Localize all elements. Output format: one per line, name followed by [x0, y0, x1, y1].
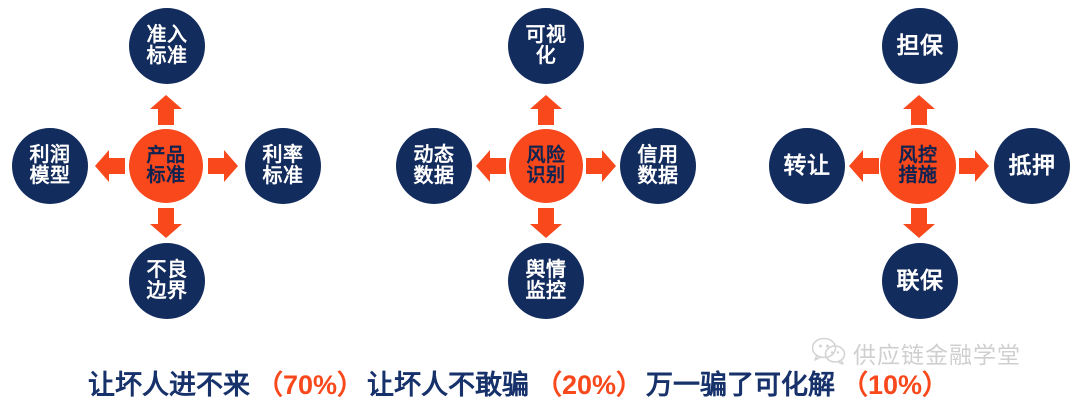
node-label: 准入 标准	[147, 25, 188, 67]
node-left-cluster2[interactable]: 动态 数据	[396, 128, 472, 204]
node-label: 抵押	[1009, 154, 1056, 178]
node-right-cluster1[interactable]: 利率 标准	[245, 128, 321, 204]
arrow-right-cluster1	[208, 150, 238, 182]
arrow-up-cluster1	[150, 95, 182, 125]
caption-text: 万一骗了可化解	[646, 370, 835, 400]
node-left-cluster1[interactable]: 利润 模型	[12, 128, 88, 204]
arrow-left-cluster3	[849, 150, 879, 182]
node-right-cluster2[interactable]: 信用 数据	[620, 128, 696, 204]
caption-text: 让坏人进不来	[88, 370, 250, 400]
node-label: 舆情 监控	[526, 260, 567, 302]
node-label: 产品 标准	[146, 146, 185, 186]
node-label: 利润 模型	[30, 145, 71, 187]
caption-text: 让坏人不敢骗	[367, 370, 529, 400]
arrow-down-cluster2	[530, 208, 562, 238]
arrow-down-cluster1	[150, 208, 182, 238]
caption-cluster3: 万一骗了可化解（10%）	[646, 363, 949, 402]
node-hub-cluster1[interactable]: 产品 标准	[129, 129, 203, 203]
arrow-down-cluster3	[903, 208, 935, 238]
caption-percent: （10%）	[841, 370, 949, 400]
caption-cluster1: 让坏人进不来（70%）	[88, 363, 364, 402]
node-hub-cluster2[interactable]: 风险 识别	[509, 129, 583, 203]
node-bottom-cluster1[interactable]: 不良 边界	[129, 243, 205, 319]
node-label: 利率 标准	[263, 145, 304, 187]
arrow-right-cluster3	[959, 150, 989, 182]
arrow-up-cluster3	[903, 95, 935, 125]
arrow-up-cluster2	[530, 95, 562, 125]
arrow-left-cluster1	[95, 150, 125, 182]
node-left-cluster3[interactable]: 转让	[769, 128, 845, 204]
node-label: 可视 化	[526, 25, 567, 67]
node-bottom-cluster3[interactable]: 联保	[882, 243, 958, 319]
caption-percent: （20%）	[535, 370, 643, 400]
arrow-right-cluster2	[586, 150, 616, 182]
caption-cluster2: 让坏人不敢骗（20%）	[367, 363, 643, 402]
node-right-cluster3[interactable]: 抵押	[994, 128, 1070, 204]
node-label: 动态 数据	[414, 145, 455, 187]
node-label: 风控 措施	[898, 146, 937, 186]
node-top-cluster3[interactable]: 担保	[882, 8, 958, 84]
node-hub-cluster3[interactable]: 风控 措施	[880, 128, 956, 204]
node-top-cluster1[interactable]: 准入 标准	[129, 8, 205, 84]
node-label: 联保	[897, 269, 944, 293]
node-label: 担保	[897, 34, 944, 58]
node-label: 不良 边界	[147, 260, 188, 302]
node-label: 转让	[784, 154, 831, 178]
caption-percent: （70%）	[256, 370, 364, 400]
node-bottom-cluster2[interactable]: 舆情 监控	[508, 243, 584, 319]
arrow-left-cluster2	[476, 150, 506, 182]
node-top-cluster2[interactable]: 可视 化	[508, 8, 584, 84]
diagram-canvas: 准入 标准 利润 模型 产品 标准 利率 标准 不良 边界	[0, 0, 1080, 411]
node-label: 风险 识别	[526, 146, 565, 186]
node-label: 信用 数据	[638, 145, 679, 187]
